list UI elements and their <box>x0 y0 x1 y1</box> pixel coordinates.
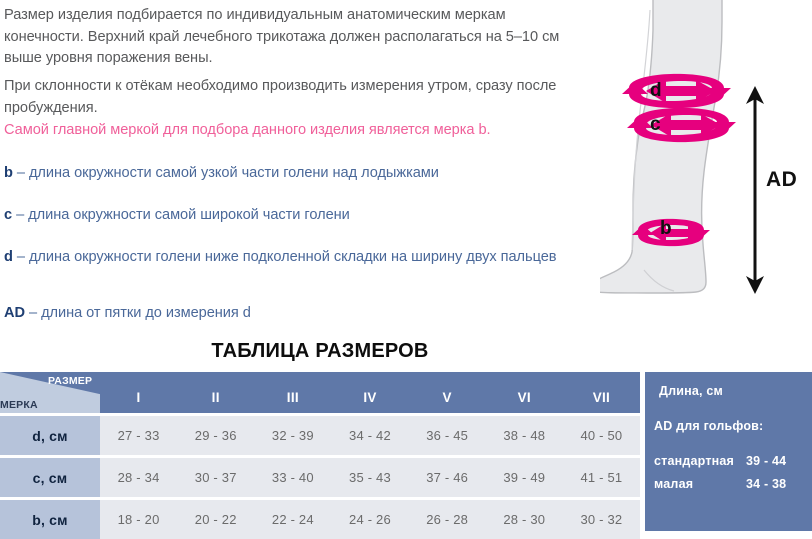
cell-b-6: 28 - 30 <box>486 500 563 539</box>
definition-b-dash: – <box>13 165 29 181</box>
size-table-header-row: РАЗМЕР МЕРКА I II III IV V VI VII <box>0 372 640 413</box>
row-label-b: b, см <box>0 500 100 539</box>
definition-c-dash: – <box>12 207 28 223</box>
length-small-label: малая <box>654 477 746 491</box>
length-panel-title: Длина, см <box>659 384 723 398</box>
figure-label-d: d <box>650 80 662 102</box>
figure-label-b: b <box>660 218 672 240</box>
cell-d-3: 32 - 39 <box>254 416 331 455</box>
cell-c-1: 28 - 34 <box>100 458 177 497</box>
cell-d-1: 27 - 33 <box>100 416 177 455</box>
definition-ad-key: AD <box>4 305 25 321</box>
size-column-headers: I II III IV V VI VII <box>100 372 640 413</box>
figure-label-c: c <box>650 114 661 136</box>
column-header-7: VII <box>563 390 640 413</box>
cell-b-1: 18 - 20 <box>100 500 177 539</box>
cell-b-5: 26 - 28 <box>409 500 486 539</box>
cell-d-7: 40 - 50 <box>563 416 640 455</box>
cell-c-3: 33 - 40 <box>254 458 331 497</box>
row-values-c: 28 - 34 30 - 37 33 - 40 35 - 43 37 - 46 … <box>100 458 640 497</box>
length-panel-standard-row: стандартная 39 - 44 <box>654 454 804 468</box>
definition-b-key: b <box>4 165 13 181</box>
definition-ad-text: длина от пятки до измерения d <box>41 305 251 321</box>
row-label-d: d, см <box>0 416 100 455</box>
cell-c-7: 41 - 51 <box>563 458 640 497</box>
size-table: РАЗМЕР МЕРКА I II III IV V VI VII d, см … <box>0 372 640 539</box>
column-header-6: VI <box>486 390 563 413</box>
length-standard-value: 39 - 44 <box>746 454 786 468</box>
figure-label-ad: AD <box>766 168 797 192</box>
definition-d-text: длина окружности голени ниже подколенной… <box>29 249 557 265</box>
length-panel: Длина, см AD для гольфов: стандартная 39… <box>645 372 812 531</box>
cell-c-4: 35 - 43 <box>331 458 408 497</box>
cell-b-3: 22 - 24 <box>254 500 331 539</box>
intro-paragraph-2: При склонности к отёкам необходимо произ… <box>4 76 584 119</box>
column-header-5: V <box>409 390 486 413</box>
column-header-1: I <box>100 390 177 413</box>
definition-d: d – длина окружности голени ниже подколе… <box>4 247 574 269</box>
size-table-corner-cell: РАЗМЕР МЕРКА <box>0 372 100 413</box>
definition-b: b – длина окружности самой узкой части г… <box>4 163 594 185</box>
ad-dimension-arrow-icon <box>746 86 764 294</box>
definition-c: c – длина окружности самой широкой части… <box>4 205 594 227</box>
table-row: b, см 18 - 20 20 - 22 22 - 24 24 - 26 26… <box>0 500 640 539</box>
definition-c-key: c <box>4 207 12 223</box>
intro-paragraph-1: Размер изделия подбирается по индивидуал… <box>4 5 584 70</box>
cell-b-2: 20 - 22 <box>177 500 254 539</box>
length-panel-subtitle: AD для гольфов: <box>654 419 763 433</box>
highlight-note: Самой главной меркой для подбора данного… <box>4 120 491 140</box>
cell-d-2: 29 - 36 <box>177 416 254 455</box>
cell-c-6: 39 - 49 <box>486 458 563 497</box>
length-standard-label: стандартная <box>654 454 746 468</box>
definition-d-dash: – <box>13 249 29 265</box>
column-header-3: III <box>254 390 331 413</box>
corner-label-merka: МЕРКА <box>0 399 38 411</box>
row-label-c: с, см <box>0 458 100 497</box>
definition-c-text: длина окружности самой широкой части гол… <box>28 207 350 223</box>
definition-ad-dash: – <box>25 305 41 321</box>
table-row: d, см 27 - 33 29 - 36 32 - 39 34 - 42 36… <box>0 416 640 455</box>
length-small-value: 34 - 38 <box>746 477 786 491</box>
cell-c-5: 37 - 46 <box>409 458 486 497</box>
row-values-d: 27 - 33 29 - 36 32 - 39 34 - 42 36 - 45 … <box>100 416 640 455</box>
row-values-b: 18 - 20 20 - 22 22 - 24 24 - 26 26 - 28 … <box>100 500 640 539</box>
length-panel-small-row: малая 34 - 38 <box>654 477 804 491</box>
column-header-2: II <box>177 390 254 413</box>
definition-ad: AD – длина от пятки до измерения d <box>4 303 594 325</box>
definition-b-text: длина окружности самой узкой части голен… <box>29 165 439 181</box>
leg-measurement-diagram <box>600 0 812 330</box>
leg-silhouette <box>600 0 722 293</box>
table-row: с, см 28 - 34 30 - 37 33 - 40 35 - 43 37… <box>0 458 640 497</box>
corner-label-razmer: РАЗМЕР <box>48 375 92 387</box>
column-header-4: IV <box>331 390 408 413</box>
definition-d-key: d <box>4 249 13 265</box>
cell-d-6: 38 - 48 <box>486 416 563 455</box>
cell-b-4: 24 - 26 <box>331 500 408 539</box>
size-table-title: ТАБЛИЦА РАЗМЕРОВ <box>0 340 640 363</box>
cell-c-2: 30 - 37 <box>177 458 254 497</box>
cell-d-5: 36 - 45 <box>409 416 486 455</box>
cell-b-7: 30 - 32 <box>563 500 640 539</box>
cell-d-4: 34 - 42 <box>331 416 408 455</box>
